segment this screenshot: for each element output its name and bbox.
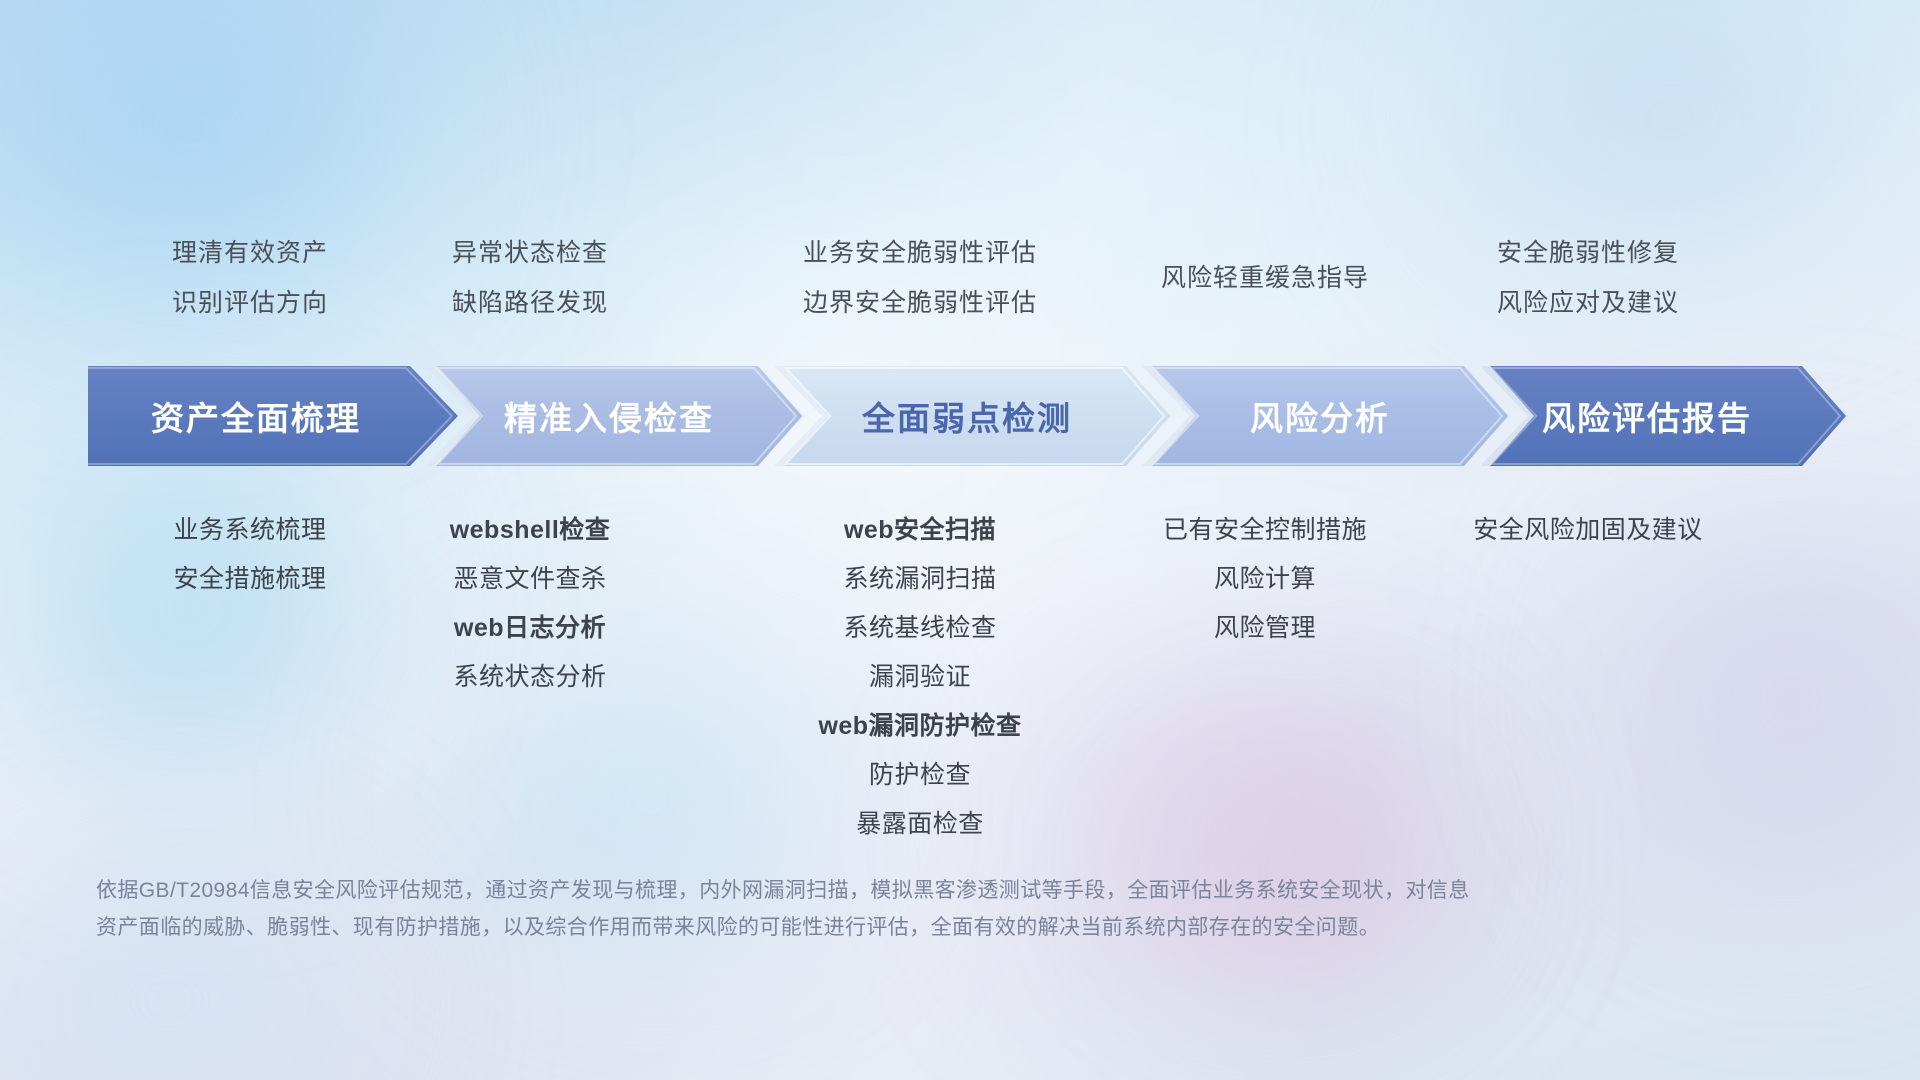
detail-item: 风险管理 <box>1015 604 1515 653</box>
detail-item: web漏洞防护检查 <box>640 702 1200 751</box>
stage-label: 风险评估报告 <box>1480 392 1848 440</box>
stage-label: 精准入侵检查 <box>426 392 804 440</box>
top-label-line: 安全脆弱性修复 <box>1338 228 1838 278</box>
detail-item: 防护检查 <box>640 751 1200 800</box>
stage-risk-analysis[interactable]: 风险分析 <box>1142 366 1510 466</box>
stage-asset-sorting[interactable]: 资产全面梳理 <box>88 366 458 466</box>
stage-weakness-detection[interactable]: 全面弱点检测 <box>774 366 1172 466</box>
stage-intrusion-check[interactable]: 精准入侵检查 <box>426 366 804 466</box>
detail-item: 漏洞验证 <box>640 653 1200 702</box>
top-label-band: 理清有效资产 识别评估方向 异常状态检查 缺陷路径发现 业务安全脆弱性评估 边界… <box>0 228 1920 340</box>
footer-line: 依据GB/T20984信息安全风险评估规范，通过资产发现与梳理，内外网漏洞扫描，… <box>96 872 1836 909</box>
footer-description: 依据GB/T20984信息安全风险评估规范，通过资产发现与梳理，内外网漏洞扫描，… <box>96 872 1836 946</box>
top-label-line: 风险应对及建议 <box>1338 278 1838 328</box>
top-labels-risk-report: 安全脆弱性修复 风险应对及建议 <box>1338 228 1838 328</box>
stage-label: 风险分析 <box>1142 392 1510 440</box>
detail-item: 风险计算 <box>1015 555 1515 604</box>
detail-item: 暴露面检查 <box>640 800 1200 849</box>
process-stage-banner: 资产全面梳理 精准入侵检查 <box>88 366 1848 466</box>
bottom-detail-band: 业务系统梳理 安全措施梳理 webshell检查 恶意文件查杀 web日志分析 … <box>0 506 1920 836</box>
stage-label: 全面弱点检测 <box>774 392 1172 440</box>
stage-risk-report[interactable]: 风险评估报告 <box>1480 366 1848 466</box>
detail-item: 安全风险加固及建议 <box>1318 506 1858 555</box>
detail-column-risk-report: 安全风险加固及建议 <box>1318 506 1858 555</box>
footer-line: 资产面临的威胁、脆弱性、现有防护措施，以及综合作用而带来风险的可能性进行评估，全… <box>96 909 1836 946</box>
stage-label: 资产全面梳理 <box>88 392 458 440</box>
